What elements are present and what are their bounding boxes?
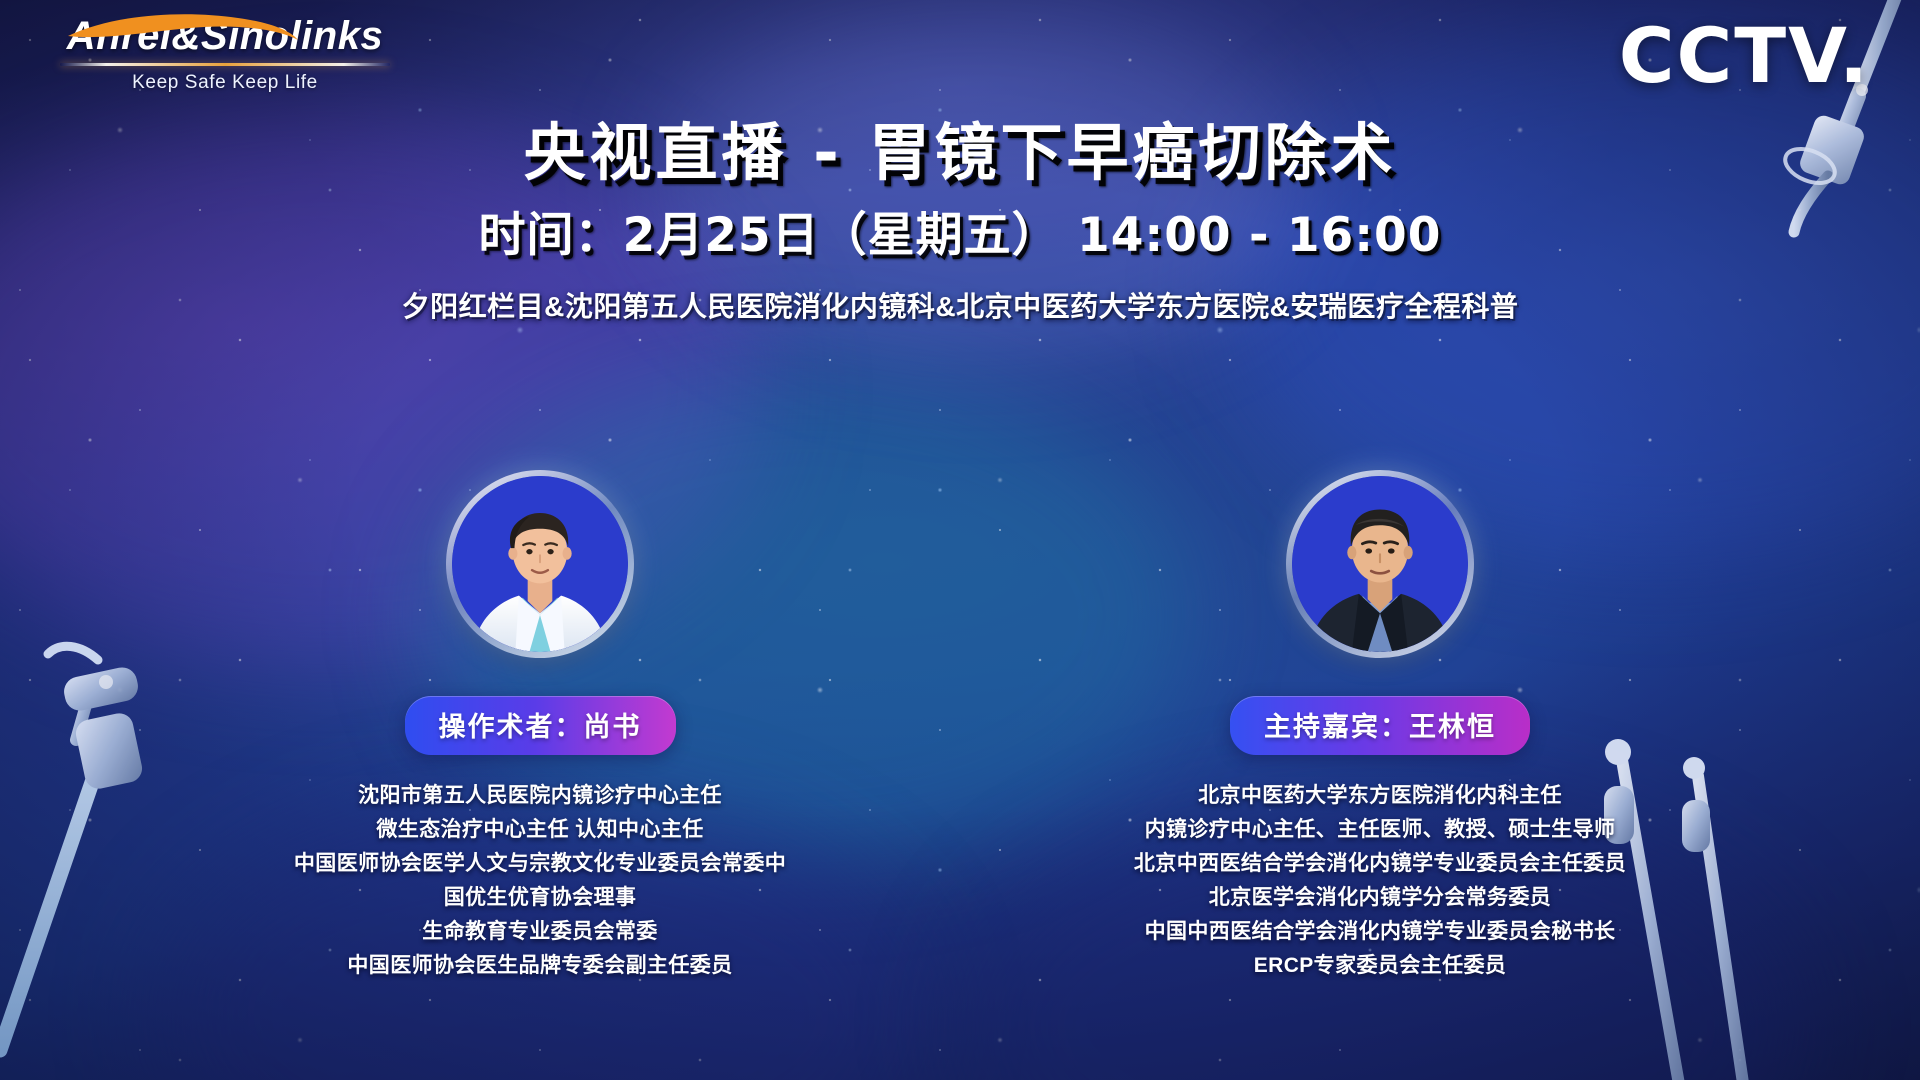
credential-item: 微生态治疗中心主任 认知中心主任 xyxy=(160,813,920,847)
avatar-frame xyxy=(446,470,634,658)
avatar-portrait-operator xyxy=(452,476,628,652)
poster-canvas: Anrei&Sinolinks Keep Safe Keep Life CCTV… xyxy=(0,0,1920,1080)
credential-item: 生命教育专业委员会常委 xyxy=(160,915,920,949)
speaker-role-badge: 操作术者：尚书 xyxy=(405,696,676,755)
speaker-credentials-list: 北京中医药大学东方医院消化内科主任 内镜诊疗中心主任、主任医师、教授、硕士生导师… xyxy=(1000,779,1760,983)
credential-item: 北京中西医结合学会消化内镜学专业委员会主任委员 xyxy=(1000,847,1760,881)
credential-item: 沈阳市第五人民医院内镜诊疗中心主任 xyxy=(160,779,920,813)
avatar xyxy=(452,476,628,652)
avatar xyxy=(1292,476,1468,652)
credential-item: ERCP专家委员会主任委员 xyxy=(1000,949,1760,983)
avatar-frame xyxy=(1286,470,1474,658)
brand-tagline: Keep Safe Keep Life xyxy=(60,72,390,94)
event-time: 时间：2月25日（星期五） 14:00 - 16:00 xyxy=(0,209,1920,263)
brand-name: Anrei&Sinolinks xyxy=(60,16,390,56)
credential-item: 国优生优育协会理事 xyxy=(160,881,920,915)
cctv-logo-dot: . xyxy=(1839,11,1870,100)
credential-item: 中国医师协会医学人文与宗教文化专业委员会常委中 xyxy=(160,847,920,881)
cctv-logo-text: CCTV xyxy=(1619,11,1839,100)
credential-item: 内镜诊疗中心主任、主任医师、教授、硕士生导师 xyxy=(1000,813,1760,847)
organizations-line: 夕阳红栏目&沈阳第五人民医院消化内镜科&北京中医药大学东方医院&安瑞医疗全程科普 xyxy=(0,285,1920,325)
credential-item: 北京医学会消化内镜学分会常务委员 xyxy=(1000,881,1760,915)
speaker-card-operator: 操作术者：尚书 沈阳市第五人民医院内镜诊疗中心主任 微生态治疗中心主任 认知中心… xyxy=(160,470,920,983)
speaker-card-host: 主持嘉宾：王林恒 北京中医药大学东方医院消化内科主任 内镜诊疗中心主任、主任医师… xyxy=(1000,470,1760,983)
credential-item: 北京中医药大学东方医院消化内科主任 xyxy=(1000,779,1760,813)
cctv-logo: CCTV. xyxy=(1619,18,1870,94)
speaker-role-badge: 主持嘉宾：王林恒 xyxy=(1230,696,1530,755)
credential-item: 中国医师协会医生品牌专委会副主任委员 xyxy=(160,949,920,983)
page-title: 央视直播 - 胃镜下早癌切除术 xyxy=(0,118,1920,187)
speaker-credentials-list: 沈阳市第五人民医院内镜诊疗中心主任 微生态治疗中心主任 认知中心主任 中国医师协… xyxy=(160,779,920,983)
brand-logo: Anrei&Sinolinks Keep Safe Keep Life xyxy=(60,16,390,94)
avatar-portrait-host xyxy=(1292,476,1468,652)
headline-block: 央视直播 - 胃镜下早癌切除术 时间：2月25日（星期五） 14:00 - 16… xyxy=(0,118,1920,325)
brand-divider xyxy=(60,63,390,66)
credential-item: 中国中西医结合学会消化内镜学专业委员会秘书长 xyxy=(1000,915,1760,949)
speakers-section: 操作术者：尚书 沈阳市第五人民医院内镜诊疗中心主任 微生态治疗中心主任 认知中心… xyxy=(0,470,1920,983)
